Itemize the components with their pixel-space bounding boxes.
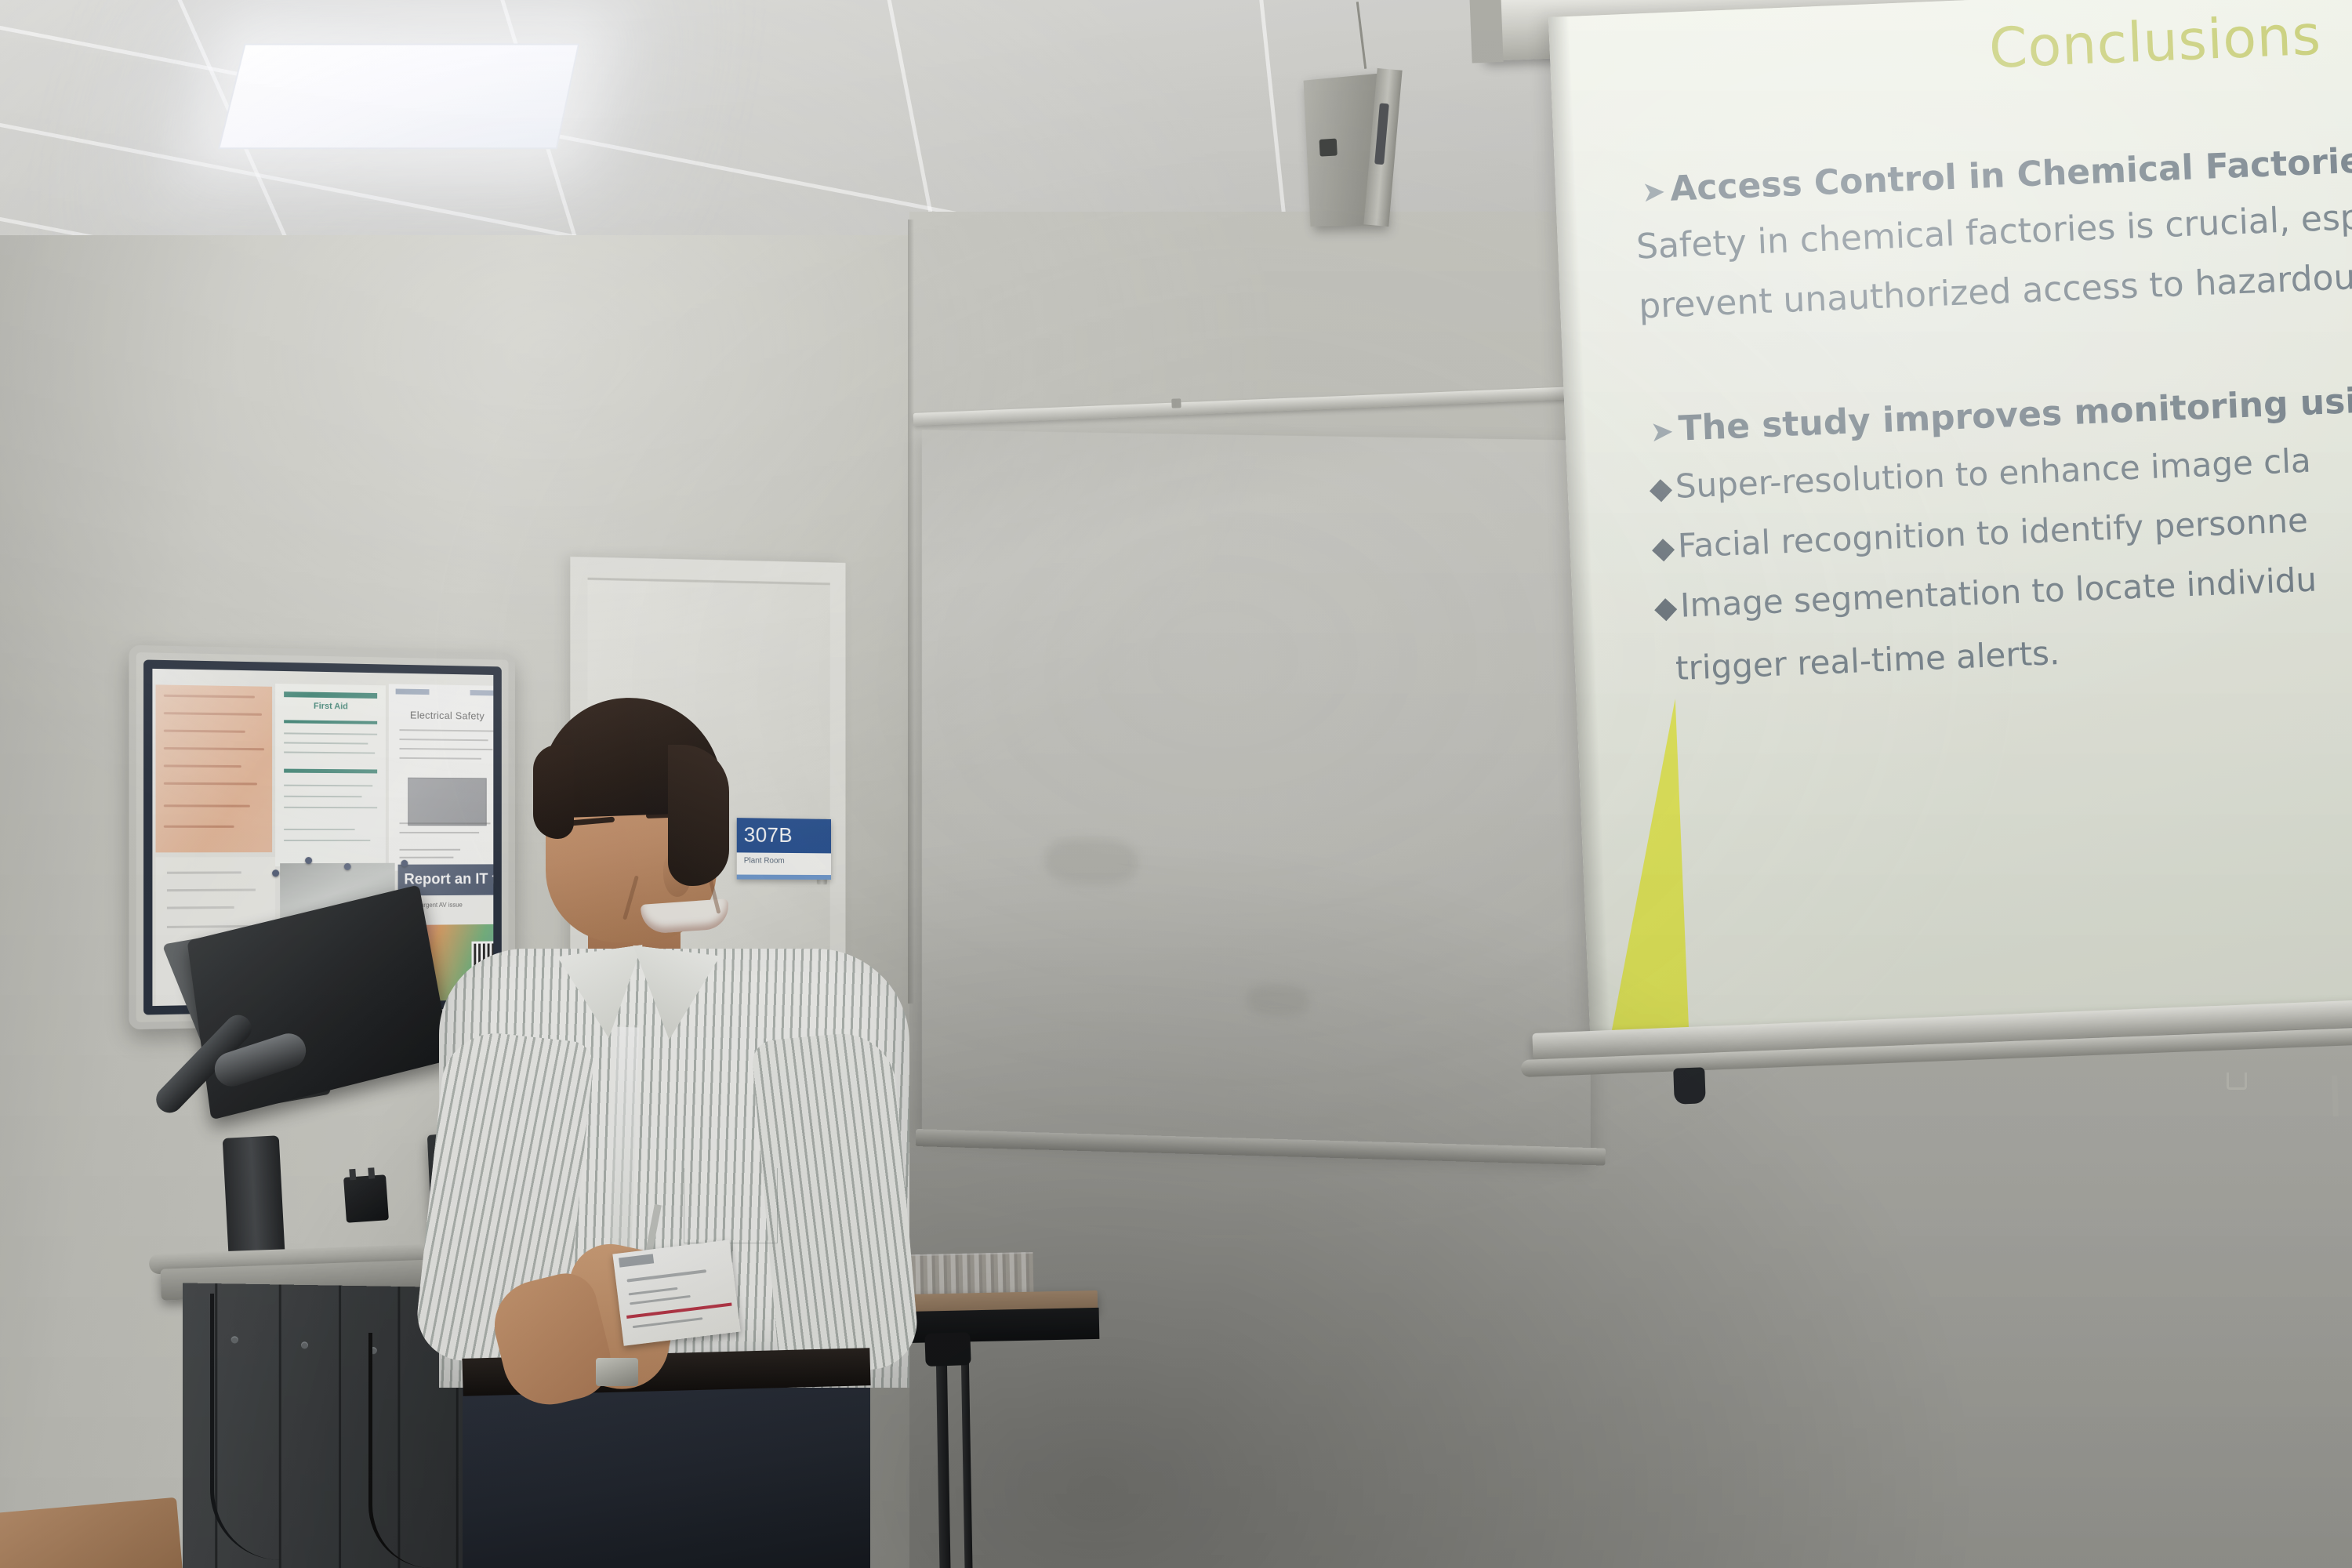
slide-line-text: Access Control in Chemical Factories: (1669, 140, 2352, 209)
slide-content: Conclusions ➤Access Control in Chemical … (1548, 0, 2352, 1040)
monitor-arm-post (223, 1135, 286, 1269)
arrow-bullet-icon: ➤ (1650, 416, 1675, 448)
wireless-mic-pack[interactable] (343, 1174, 389, 1223)
arrow-bullet-icon: ➤ (1641, 176, 1666, 209)
list-item: ◆Facial recognition to identify personne (1651, 501, 2309, 566)
wall-whiteboard[interactable] (922, 430, 1591, 1158)
list-item: ➤Access Control in Chemical Factories: (1641, 140, 2352, 210)
speaker-port-icon (1319, 139, 1338, 157)
table-foot (924, 1332, 971, 1367)
speaker-slot-icon (1374, 103, 1389, 165)
antenna-icon (349, 1169, 356, 1181)
slide-line-text: Facial recognition to identify personne (1677, 501, 2309, 565)
screw-icon (301, 1341, 308, 1348)
list-item: prevent unauthorized access to hazardous (1638, 256, 2352, 326)
list-item: ◆Image segmentation to locate individu (1653, 560, 2318, 626)
list-item: ➤The study improves monitoring using: (1650, 379, 2352, 450)
page-title: Conclusions (1987, 3, 2321, 81)
pin-icon (272, 869, 279, 877)
photograph-scene: First Aid Electrical Safety (0, 0, 2352, 1568)
slide-line-text: prevent unauthorized access to hazardous (1638, 256, 2352, 326)
power-cable (210, 1294, 281, 1560)
wall-corner (908, 220, 914, 1004)
slide-line-text: trigger real-time alerts. (1675, 633, 2060, 688)
recessed-ceiling-light-icon (218, 44, 579, 150)
projector-screen: Conclusions ➤Access Control in Chemical … (1548, 0, 2352, 1040)
screen-hook-icon (2227, 1073, 2247, 1090)
slide-line-text: Image segmentation to locate individu (1679, 560, 2318, 624)
diamond-bullet-icon: ◆ (1649, 470, 1673, 506)
slide-line-text: Safety in chemical factories is crucial,… (1635, 198, 2352, 267)
belt-buckle-icon (596, 1358, 638, 1386)
slide-line-text: Super-resolution to enhance image cla (1675, 441, 2312, 506)
badge-logo-icon (619, 1254, 654, 1267)
first-aid-poster-title: First Aid (275, 701, 386, 712)
list-item: Safety in chemical factories is crucial,… (1635, 198, 2352, 267)
screen-pull-tab[interactable] (1673, 1067, 1706, 1104)
pin-icon (401, 860, 408, 867)
pin-icon (344, 863, 351, 870)
diamond-bullet-icon: ◆ (1653, 590, 1678, 625)
presenter-shirt-pocket (684, 1168, 778, 1243)
screen-bracket-icon (1469, 0, 1503, 64)
diamond-bullet-icon: ◆ (1651, 530, 1675, 565)
presenter-hair-side (533, 745, 574, 839)
antenna-icon (368, 1167, 375, 1179)
list-item: trigger real-time alerts. (1675, 633, 2060, 688)
presenter-hair-side (668, 745, 729, 886)
presenter (470, 698, 878, 1568)
conference-name-badge (612, 1240, 740, 1345)
pin-icon (305, 857, 312, 864)
slide-line-text: The study improves monitoring using: (1678, 379, 2352, 449)
list-item: ◆Super-resolution to enhance image cla (1649, 441, 2312, 507)
rail-clip-icon (1171, 398, 1181, 408)
list-item (156, 684, 273, 852)
list-item: First Aid (275, 684, 386, 866)
power-cable (368, 1333, 431, 1568)
